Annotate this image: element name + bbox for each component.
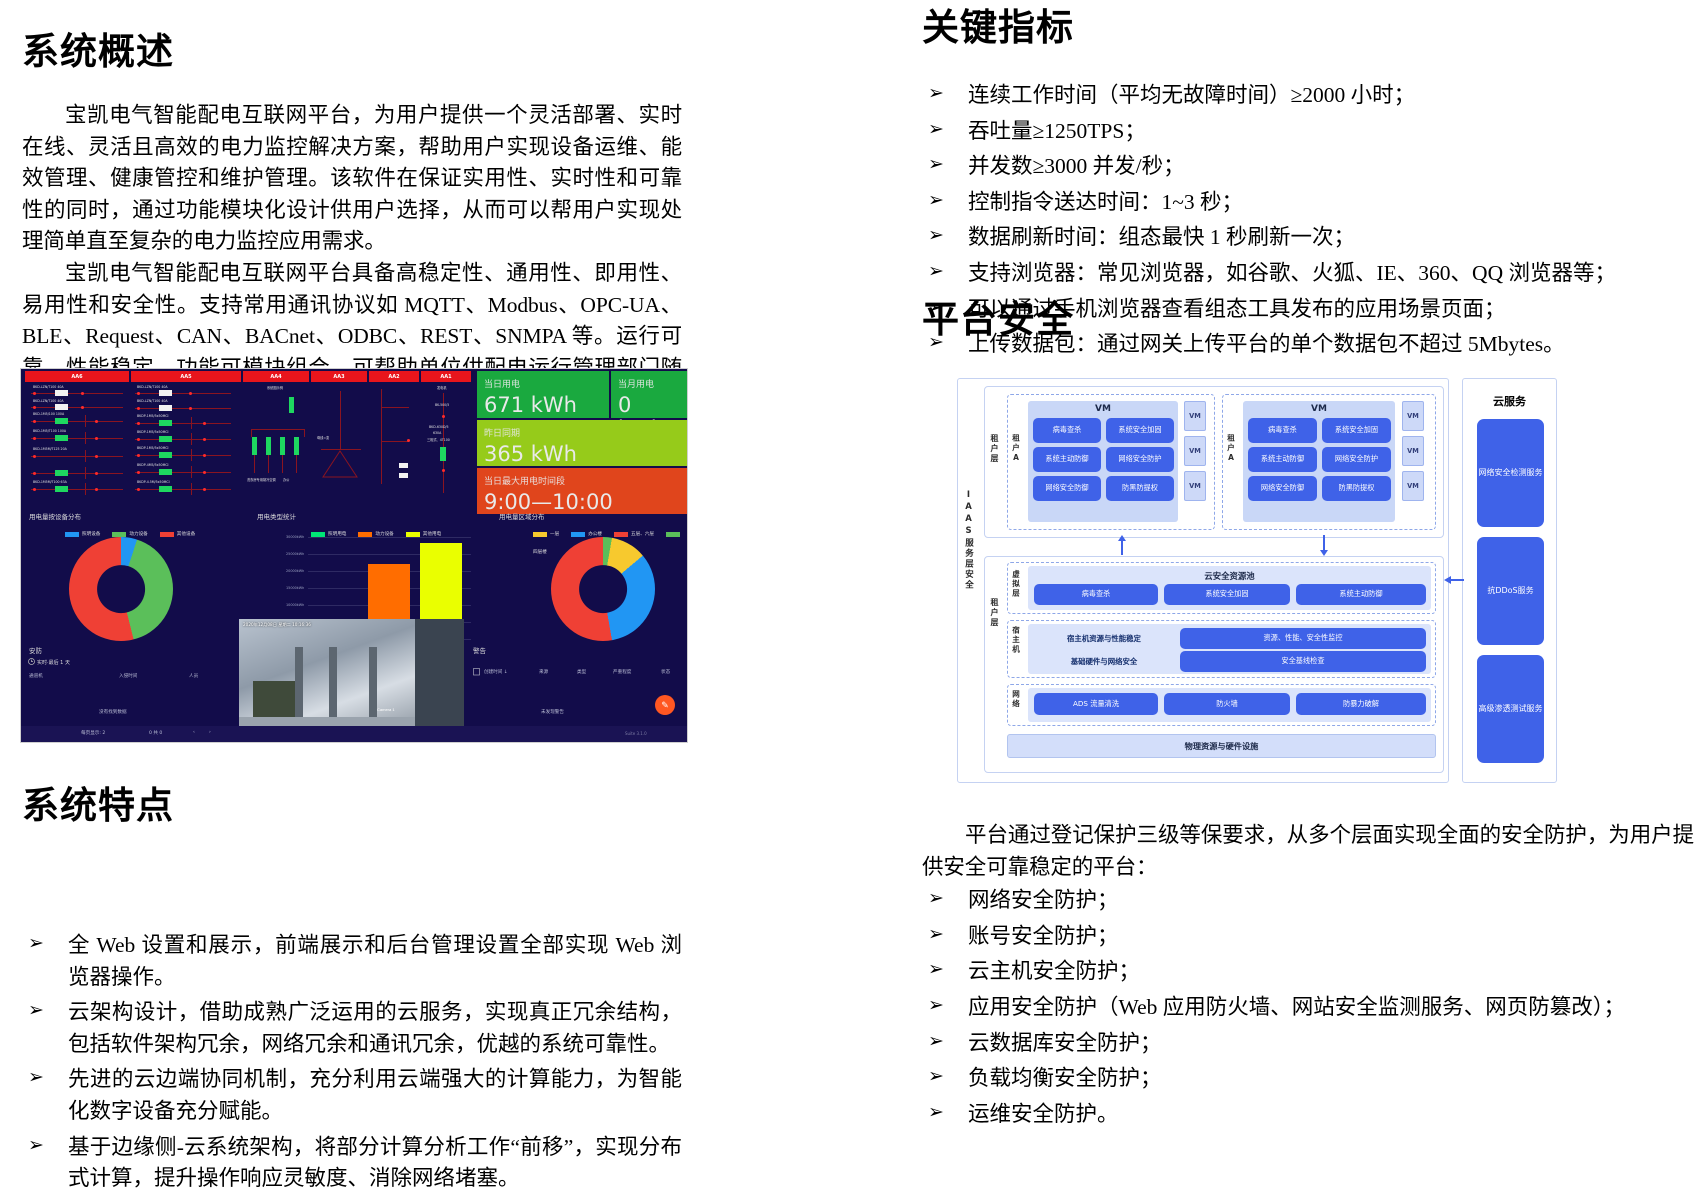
list-item-label: 网络安全防护； (968, 888, 1119, 912)
list-item-label: 连续工作时间（平均无故障时间）≥2000 小时； (968, 83, 1415, 107)
list-item-label: 控制指令送达时间：1~3 秒； (968, 190, 1243, 214)
network-layer-label: 网络 (1012, 690, 1020, 724)
pill-monitoring: 资源、性能、安全性监控 (1180, 628, 1426, 649)
slide-page: 系统概述 宝凯电气智能配电互联网平台，为用户提供一个灵活部署、实时在线、灵活且高… (0, 0, 1700, 1123)
pill-anti-brute-force: 防暴力破解 (1296, 693, 1426, 715)
feeder-label: BKD-1M5M/T125 20A (33, 447, 67, 451)
pill-network-defense: 网络安全防御 (1033, 476, 1101, 501)
pill-network-protection: 网络安全防护 (1106, 447, 1174, 472)
list-item-label: 负载均衡安全防护； (968, 1066, 1162, 1090)
arrow-bullet-icon: ➢ (928, 258, 944, 286)
iaas-service-layer-label: IAAS服务层安全 (964, 490, 973, 690)
pill-anti-privilege-escalation: 防黑防提权 (1322, 476, 1391, 501)
legend-swatch (571, 532, 585, 537)
list-item: ➢ 支持浏览器：常见浏览器，如谷歌、火狐、IE、360、QQ 浏览器等； (922, 258, 1700, 290)
alarm-col-type[interactable]: 类型 (577, 669, 586, 675)
security-timeframe: 实时·最后 1 天 (37, 659, 70, 666)
feeder-label: BKD-LZN/T100 40A (137, 385, 168, 389)
virtual-layer-label: 虚拟层 (1012, 570, 1020, 610)
feeder-label: BKDP-4.5M/5x50MCI (137, 480, 170, 484)
sld-header-aa6: AA6 (25, 371, 129, 382)
section-title-features: 系统特点 (22, 786, 174, 827)
kpi-label: 昨日同期 (484, 426, 682, 439)
feeder-label: BKD-LZN/T100 40A (33, 399, 64, 403)
section-title-overview: 系统概述 (22, 32, 174, 73)
cloud-pill-anti-ddos: 抗DDoS服务 (1477, 537, 1544, 645)
alarm-col-created[interactable]: 创建时间 ↓ (484, 669, 508, 675)
tenant-layer-label-2: 租户层 (990, 598, 998, 658)
platform-security-paragraph: 平台通过登记保护三级等保要求，从多个层面实现全面的安全防护，为用户提供安全可靠稳… (922, 820, 1694, 883)
kpi-month-usage: 当月用电 0 kWh (611, 371, 688, 418)
legend-label: 五层、六层 (631, 532, 654, 537)
arrow-bullet-icon: ➢ (928, 151, 944, 179)
alarm-col-severity[interactable]: 严重程度 (613, 669, 631, 675)
left-column: 系统概述 宝凯电气智能配电互联网平台，为用户提供一个灵活部署、实时在线、灵活且高… (0, 0, 760, 1123)
list-item-label: 云数据库安全防护； (968, 1031, 1162, 1055)
clock-icon (28, 658, 35, 665)
panel-title-device-distribution: 用电量按设备分布 (29, 511, 81, 521)
legend-label: 其他设备 (177, 532, 195, 537)
list-item: ➢ 先进的云边端协同机制，充分利用云端强大的计算能力，为智能化数字设备充分赋能。 (22, 1064, 682, 1127)
vm-chip: VM (1184, 436, 1206, 466)
sld-header-aa4: AA4 (243, 371, 309, 382)
list-item: ➢ 并发数≥3000 并发/秒； (922, 151, 1700, 183)
pill-network-defense: 网络安全防御 (1248, 476, 1317, 501)
list-item-label: 支持浏览器：常见浏览器，如谷歌、火狐、IE、360、QQ 浏览器等； (968, 261, 1616, 285)
list-item: ➢ 运维安全防护。 (922, 1099, 1694, 1131)
alarm-col-source[interactable]: 来源 (539, 669, 548, 675)
feeder-label: BKD-1M5M/T100 63A (33, 480, 67, 484)
pill-pool-virus-scan: 病毒查杀 (1034, 584, 1158, 605)
sld-header-aa3: AA3 (311, 371, 367, 382)
list-item-label: 云架构设计，借助成熟广泛运用的云服务，实现真正冗余结构，包括软件架构冗余，网络冗… (68, 1000, 682, 1056)
pill-system-hardening: 系统安全加固 (1322, 418, 1391, 443)
feeder-label: BKD-LZN/T100 40A (33, 385, 64, 389)
legend-label: 四层楼 (533, 550, 547, 555)
list-item: ➢ 应用安全防护（Web 应用防火墙、网站安全监测服务、网页防篡改）； (922, 992, 1694, 1024)
feeder-label: BKDP-4M5/5x50MCI (137, 463, 169, 467)
list-item-label: 基于边缘侧-云系统架构，将部分计算分析工作“前移”，实现分布式计算，提升操作响应… (68, 1135, 682, 1191)
panel-title-area-distribution: 用电量区域分布 (499, 511, 545, 521)
arrow-bullet-icon: ➢ (28, 997, 44, 1025)
vm-title: VM (1243, 404, 1395, 414)
overview-paragraph-1: 宝凯电气智能配电互联网平台，为用户提供一个灵活部署、实时在线、灵活且高效的电力监… (22, 100, 682, 258)
kpi-yesterday-usage: 昨日同期 365 kWh (477, 420, 688, 466)
arrow-bullet-icon: ➢ (928, 956, 944, 984)
legend-label: 照明设备 (82, 532, 100, 537)
tenant-layer-label: 租户层 (990, 434, 998, 494)
vm-chip: VM (1402, 401, 1424, 431)
list-item-label: 先进的云边端协同机制，充分利用云端强大的计算能力，为智能化数字设备充分赋能。 (68, 1067, 682, 1123)
legend-label: 动力设备 (129, 532, 147, 537)
cloud-service-column: 云服务 网络安全检测服务 抗DDoS服务 高级渗透测试服务 (1462, 378, 1557, 783)
arrow-bullet-icon: ➢ (928, 992, 944, 1020)
arrow-bullet-icon: ➢ (928, 80, 944, 108)
edit-fab-button[interactable]: ✎ (655, 695, 675, 715)
host-text-resources: 宿主机资源与性能稳定 (1034, 628, 1174, 649)
list-item-label: 云主机安全防护； (968, 959, 1140, 983)
section-title-platform-security: 平台安全 (922, 300, 1074, 341)
cloud-pill-penetration-test: 高级渗透测试服务 (1477, 655, 1544, 763)
page-count: 0 共 0 (149, 730, 162, 736)
arrow-bullet-icon: ➢ (928, 1063, 944, 1091)
legend-swatch (614, 532, 628, 537)
arrow-bullet-icon: ➢ (928, 885, 944, 913)
vm-chip: VM (1402, 471, 1424, 501)
platform-security-list: ➢ 网络安全防护； ➢ 账号安全防护； ➢ 云主机安全防护； ➢ 应用安全防护（… (922, 885, 1694, 1130)
kpi-label: 当日最大用电时间段 (484, 474, 682, 487)
feeder-label: BKDP-1M5/5x50MCI (137, 446, 169, 450)
prev-page-icon[interactable]: ‹ (193, 730, 195, 735)
list-item: ➢ 云数据库安全防护； (922, 1028, 1694, 1060)
alarm-col-status[interactable]: 状态 (661, 669, 670, 675)
tenant-a-label: 租户A (1227, 434, 1235, 489)
kpi-peak-window: 当日最大用电时间段 9:00—10:00 (477, 468, 688, 514)
sld-header-aa1: AA1 (421, 371, 471, 382)
pill-ads-traffic-cleaning: ADS 流量清洗 (1034, 693, 1158, 715)
donut-chart-area-distribution (551, 537, 655, 641)
list-item: ➢ 云架构设计，借助成熟广泛运用的云服务，实现真正冗余结构，包括软件架构冗余，网… (22, 997, 682, 1060)
list-item: ➢ 全 Web 设置和展示，前端展示和后台管理设置全部实现 Web 浏览器操作。 (22, 930, 682, 993)
pill-active-defense: 系统主动防御 (1248, 447, 1317, 472)
feeder-label: BKDP-1M5/5x50MCI (137, 430, 169, 434)
security-architecture-diagram: IAAS服务层安全 租户层 租户A VM 病毒查杀 系统安全加固 系统主动防御 … (950, 372, 1570, 787)
tenant-a-label: 租户A (1012, 434, 1020, 489)
features-list: ➢ 全 Web 设置和展示，前端展示和后台管理设置全部实现 Web 浏览器操作。… (22, 930, 682, 1199)
dashboard-screenshot: AA6 AA5 AA4 AA3 AA2 AA1 BKD-LZN/T100 40A… (20, 368, 688, 743)
arrow-bullet-icon: ➢ (928, 222, 944, 250)
sld-column-aa2 (371, 385, 419, 500)
panel-title-security: 安防 (29, 645, 42, 655)
security-empty-state: 没有找到数据 (99, 709, 127, 715)
panel-title-alarm: 警告 (473, 645, 486, 655)
arrow-bullet-icon: ➢ (28, 1064, 44, 1092)
pill-virus-scan: 病毒查杀 (1033, 418, 1101, 443)
legend-swatch (666, 532, 680, 537)
list-item: ➢ 基于边缘侧-云系统架构，将部分计算分析工作“前移”，实现分布式计算，提升操作… (22, 1132, 682, 1195)
y-tick: 20000kWh (286, 569, 304, 573)
sld-column-aa6: BKD-LZN/T100 40A BKD-LZN/T100 40A BKD-1M… (27, 385, 127, 500)
version-label: Suite 3.1.0 (625, 731, 647, 736)
sld-column-aa5: BKD-LZN/T100 40A BKD-LZN/T100 40A BKDP-1… (133, 385, 239, 500)
y-tick: 10000kWh (286, 603, 304, 607)
cloud-pill-network-detection: 网络安全检测服务 (1477, 419, 1544, 527)
dashboard-footer: 每页显示: 2 0 共 0 ‹ › Suite 3.1.0 (21, 726, 687, 742)
kpi-value: 671 kWh (484, 393, 602, 417)
list-item: ➢ 负载均衡安全防护； (922, 1063, 1694, 1095)
security-col-time: 入侵时间 (119, 673, 137, 679)
section-title-metrics: 关键指标 (922, 8, 1074, 49)
list-item-label: 数据刷新时间：组态最快 1 秒刷新一次； (968, 225, 1355, 249)
list-item: ➢ 数据刷新时间：组态最快 1 秒刷新一次； (922, 222, 1700, 254)
feeder-label: BKD-1M5/T100 100A (33, 429, 66, 433)
video-feed[interactable]: 2020年12月08日 星期二 10:16:36 Camera 1 (239, 619, 464, 739)
legend-label: 一层 (550, 532, 559, 537)
sld-column-aa4: 系统图示例 洗衣房专用 制冷空调 办公 (245, 385, 309, 500)
host-text-hardware: 基础硬件与网络安全 (1034, 651, 1174, 672)
security-col-person: 人员 (189, 673, 198, 679)
pill-active-defense: 系统主动防御 (1033, 447, 1101, 472)
kpi-label: 当日用电 (484, 377, 602, 390)
legend-swatch (160, 532, 174, 537)
platform-security-body: 平台通过登记保护三级等保要求，从多个层面实现全面的安全防护，为用户提供安全可靠稳… (922, 820, 1694, 1134)
y-tick: 15000kWh (286, 586, 304, 590)
arrow-bullet-icon: ➢ (28, 930, 44, 958)
list-item-label: 全 Web 设置和展示，前端展示和后台管理设置全部实现 Web 浏览器操作。 (68, 933, 682, 989)
list-item-label: 运维安全防护。 (968, 1102, 1119, 1126)
arrow-bullet-icon: ➢ (928, 187, 944, 215)
list-item: ➢ 连续工作时间（平均无故障时间）≥2000 小时； (922, 80, 1700, 112)
kpi-label: 当月用电 (618, 377, 682, 390)
pill-pool-system-hardening: 系统安全加固 (1164, 584, 1290, 605)
sld-header-aa5: AA5 (131, 371, 241, 382)
cloud-security-pool-title: 云安全资源池 (1028, 570, 1431, 582)
legend-swatch (533, 532, 547, 537)
arrow-bullet-icon: ➢ (928, 1028, 944, 1056)
pill-system-hardening: 系统安全加固 (1106, 418, 1174, 443)
checkbox-icon[interactable] (473, 668, 480, 676)
pill-network-protection: 网络安全防护 (1322, 447, 1391, 472)
list-item: ➢ 网络安全防护； (922, 885, 1694, 917)
vm-chip: VM (1184, 401, 1206, 431)
list-item-label: 应用安全防护（Web 应用防火墙、网站安全监测服务、网页防篡改）； (968, 995, 1625, 1019)
y-tick: 30000kWh (286, 535, 304, 539)
pill-virus-scan: 病毒查杀 (1248, 418, 1317, 443)
kpi-today-usage: 当日用电 671 kWh (477, 371, 609, 418)
rows-per-page[interactable]: 每页显示: 2 (81, 730, 105, 736)
list-item: ➢ 云主机安全防护； (922, 956, 1694, 988)
single-line-diagram: AA6 AA5 AA4 AA3 AA2 AA1 BKD-LZN/T100 40A… (21, 369, 476, 504)
vm-title: VM (1028, 404, 1178, 414)
donut-chart-device-distribution (69, 537, 173, 641)
list-item: ➢ 控制指令送达时间：1~3 秒； (922, 187, 1700, 219)
list-item: ➢ 账号安全防护； (922, 921, 1694, 953)
cloud-service-title: 云服务 (1463, 393, 1556, 409)
list-item-label: 并发数≥3000 并发/秒； (968, 154, 1185, 178)
feeder-label: BKDP-1M5/5x50MCI (137, 414, 169, 418)
legend-swatch (65, 532, 79, 537)
next-page-icon[interactable]: › (209, 730, 211, 735)
y-tick: 25000kWh (286, 552, 304, 556)
alarm-empty-state: 未发现警告 (541, 709, 564, 715)
arrow-bullet-icon: ➢ (928, 1099, 944, 1127)
feeder-label: BKD-LZN/T100 40A (137, 399, 168, 403)
pill-baseline-check: 安全基线检查 (1180, 651, 1426, 672)
host-layer-label: 宿主机 (1012, 626, 1020, 674)
sld-header-aa2: AA2 (369, 371, 419, 382)
sld-column-aa3: 母线=变 (313, 385, 367, 500)
vm-chip: VM (1402, 436, 1424, 466)
arrow-bullet-icon: ➢ (28, 1132, 44, 1160)
pill-anti-privilege-escalation: 防黑防提权 (1106, 476, 1174, 501)
list-item-label: 账号安全防护； (968, 924, 1119, 948)
sld-column-aa1: 发电机 BK-500/5 BKD-630D/5 630A 三相式、4T100 (423, 385, 471, 500)
arrow-bullet-icon: ➢ (928, 116, 944, 144)
video-timestamp: 2020年12月08日 星期二 10:16:36 (243, 622, 311, 628)
physical-resources-bar: 物理资源与硬件设施 (1007, 734, 1436, 758)
security-col-channel: 通道机 (29, 673, 43, 679)
vm-chip: VM (1184, 471, 1206, 501)
list-item: ➢ 吞吐量≥1250TPS； (922, 116, 1700, 148)
pill-firewall: 防火墙 (1164, 693, 1290, 715)
panel-title-usage-type: 用电类型统计 (257, 511, 296, 521)
arrow-bullet-icon: ➢ (928, 921, 944, 949)
pill-pool-active-defense: 系统主动防御 (1296, 584, 1426, 605)
feeder-label: BKD-1M5/100 100A (33, 412, 64, 416)
kpi-value: 365 kWh (484, 442, 682, 466)
list-item-label: 吞吐量≥1250TPS； (968, 119, 1146, 143)
